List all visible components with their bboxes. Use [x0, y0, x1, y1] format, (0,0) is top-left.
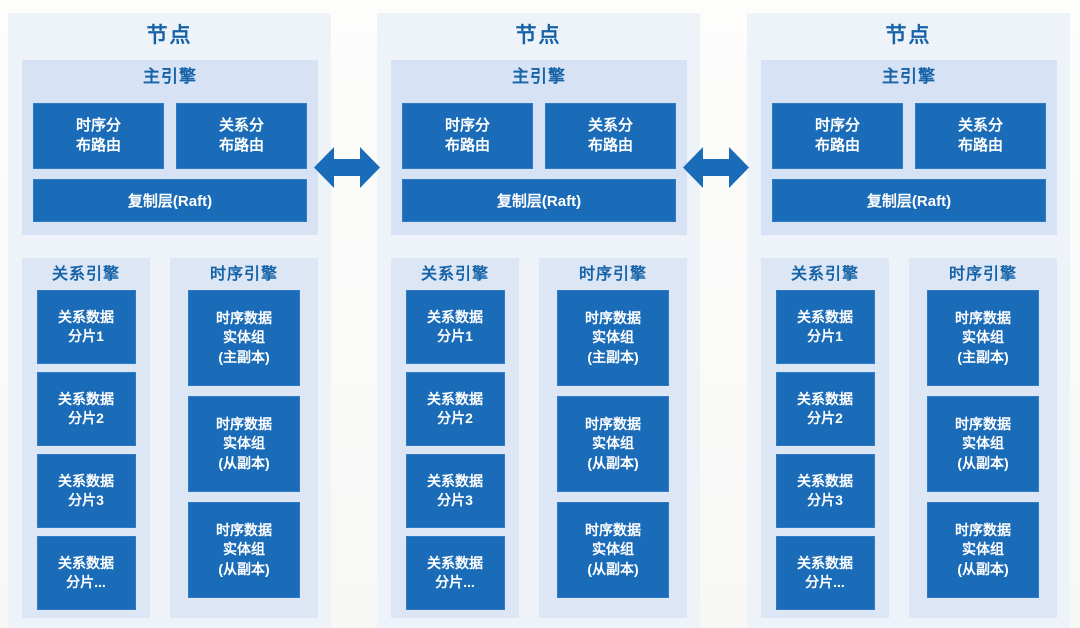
- timeseries-entity-group-box[interactable]: 时序数据 实体组 (主副本): [188, 290, 300, 386]
- timeseries-entity-group-list: 时序数据 实体组 (主副本) 时序数据 实体组 (从副本) 时序数据 实体组 (…: [909, 290, 1057, 618]
- timeseries-engine-title: 时序引擎: [949, 258, 1017, 290]
- relational-shard-box[interactable]: 关系数据 分片1: [37, 290, 136, 364]
- timeseries-engine-panel[interactable]: 时序引擎 时序数据 实体组 (主副本) 时序数据 实体组 (从副本) 时序数据 …: [539, 258, 687, 618]
- timeseries-entity-group-box[interactable]: 时序数据 实体组 (从副本): [557, 502, 669, 598]
- timeseries-entity-group-list: 时序数据 实体组 (主副本) 时序数据 实体组 (从副本) 时序数据 实体组 (…: [539, 290, 687, 618]
- relational-router-box[interactable]: 关系分 布路由: [915, 103, 1046, 169]
- router-row: 时序分 布路由 关系分 布路由: [402, 103, 676, 169]
- relational-engine-title: 关系引擎: [791, 258, 859, 290]
- replication-layer-raft-bar[interactable]: 复制层(Raft): [33, 179, 307, 222]
- relational-shard-box[interactable]: 关系数据 分片2: [37, 372, 136, 446]
- main-engine-panel[interactable]: 主引擎 时序分 布路由 关系分 布路由 复制层(Raft): [22, 60, 318, 235]
- relational-shard-box[interactable]: 关系数据 分片...: [406, 536, 505, 610]
- relational-shard-box[interactable]: 关系数据 分片3: [406, 454, 505, 528]
- node-panel-3[interactable]: 节点 主引擎 时序分 布路由 关系分 布路由 复制层(Raft) 关系引擎 关系…: [747, 13, 1070, 628]
- node-title: 节点: [747, 13, 1070, 46]
- relational-router-box[interactable]: 关系分 布路由: [545, 103, 676, 169]
- relational-shard-list: 关系数据 分片1 关系数据 分片2 关系数据 分片3 关系数据 分片...: [391, 290, 519, 618]
- timeseries-engine-title: 时序引擎: [579, 258, 647, 290]
- timeseries-entity-group-box[interactable]: 时序数据 实体组 (从副本): [927, 502, 1039, 598]
- relational-shard-list: 关系数据 分片1 关系数据 分片2 关系数据 分片3 关系数据 分片...: [761, 290, 889, 618]
- relational-shard-box[interactable]: 关系数据 分片3: [776, 454, 875, 528]
- relational-shard-box[interactable]: 关系数据 分片2: [776, 372, 875, 446]
- relational-shard-box[interactable]: 关系数据 分片1: [406, 290, 505, 364]
- bidirectional-arrow-icon: [683, 144, 749, 191]
- connector-node1-node2: [314, 144, 380, 191]
- timeseries-router-box[interactable]: 时序分 布路由: [772, 103, 903, 169]
- timeseries-entity-group-box[interactable]: 时序数据 实体组 (从副本): [557, 396, 669, 492]
- engines-row: 关系引擎 关系数据 分片1 关系数据 分片2 关系数据 分片3 关系数据 分片.…: [22, 258, 318, 618]
- relational-shard-box[interactable]: 关系数据 分片1: [776, 290, 875, 364]
- timeseries-engine-title: 时序引擎: [210, 258, 278, 290]
- relational-shard-list: 关系数据 分片1 关系数据 分片2 关系数据 分片3 关系数据 分片...: [22, 290, 150, 618]
- main-engine-title: 主引擎: [391, 60, 687, 85]
- router-row: 时序分 布路由 关系分 布路由: [772, 103, 1046, 169]
- engines-row: 关系引擎 关系数据 分片1 关系数据 分片2 关系数据 分片3 关系数据 分片.…: [391, 258, 687, 618]
- relational-engine-title: 关系引擎: [52, 258, 120, 290]
- timeseries-entity-group-box[interactable]: 时序数据 实体组 (从副本): [188, 502, 300, 598]
- timeseries-entity-group-box[interactable]: 时序数据 实体组 (主副本): [927, 290, 1039, 386]
- node-panel-2[interactable]: 节点 主引擎 时序分 布路由 关系分 布路由 复制层(Raft) 关系引擎 关系…: [377, 13, 700, 628]
- timeseries-entity-group-box[interactable]: 时序数据 实体组 (从副本): [927, 396, 1039, 492]
- replication-layer-raft-bar[interactable]: 复制层(Raft): [402, 179, 676, 222]
- main-engine-title: 主引擎: [761, 60, 1057, 85]
- node-title: 节点: [377, 13, 700, 46]
- timeseries-engine-panel[interactable]: 时序引擎 时序数据 实体组 (主副本) 时序数据 实体组 (从副本) 时序数据 …: [170, 258, 318, 618]
- router-row: 时序分 布路由 关系分 布路由: [33, 103, 307, 169]
- relational-engine-panel[interactable]: 关系引擎 关系数据 分片1 关系数据 分片2 关系数据 分片3 关系数据 分片.…: [391, 258, 519, 618]
- main-engine-title: 主引擎: [22, 60, 318, 85]
- relational-shard-box[interactable]: 关系数据 分片...: [776, 536, 875, 610]
- node-title: 节点: [8, 13, 331, 46]
- replication-layer-raft-bar[interactable]: 复制层(Raft): [772, 179, 1046, 222]
- relational-shard-box[interactable]: 关系数据 分片2: [406, 372, 505, 446]
- relational-shard-box[interactable]: 关系数据 分片...: [37, 536, 136, 610]
- main-engine-panel[interactable]: 主引擎 时序分 布路由 关系分 布路由 复制层(Raft): [761, 60, 1057, 235]
- engines-row: 关系引擎 关系数据 分片1 关系数据 分片2 关系数据 分片3 关系数据 分片.…: [761, 258, 1057, 618]
- timeseries-router-box[interactable]: 时序分 布路由: [402, 103, 533, 169]
- cluster-row: 节点 主引擎 时序分 布路由 关系分 布路由 复制层(Raft) 关系引擎 关系…: [0, 0, 1080, 628]
- timeseries-engine-panel[interactable]: 时序引擎 时序数据 实体组 (主副本) 时序数据 实体组 (从副本) 时序数据 …: [909, 258, 1057, 618]
- bidirectional-arrow-icon: [314, 144, 380, 191]
- relational-engine-panel[interactable]: 关系引擎 关系数据 分片1 关系数据 分片2 关系数据 分片3 关系数据 分片.…: [761, 258, 889, 618]
- node-panel-1[interactable]: 节点 主引擎 时序分 布路由 关系分 布路由 复制层(Raft) 关系引擎 关系…: [8, 13, 331, 628]
- timeseries-router-box[interactable]: 时序分 布路由: [33, 103, 164, 169]
- timeseries-entity-group-box[interactable]: 时序数据 实体组 (主副本): [557, 290, 669, 386]
- relational-router-box[interactable]: 关系分 布路由: [176, 103, 307, 169]
- diagram-canvas: 节点 主引擎 时序分 布路由 关系分 布路由 复制层(Raft) 关系引擎 关系…: [0, 0, 1080, 628]
- timeseries-entity-group-list: 时序数据 实体组 (主副本) 时序数据 实体组 (从副本) 时序数据 实体组 (…: [170, 290, 318, 618]
- timeseries-entity-group-box[interactable]: 时序数据 实体组 (从副本): [188, 396, 300, 492]
- relational-engine-panel[interactable]: 关系引擎 关系数据 分片1 关系数据 分片2 关系数据 分片3 关系数据 分片.…: [22, 258, 150, 618]
- connector-node2-node3: [683, 144, 749, 191]
- main-engine-panel[interactable]: 主引擎 时序分 布路由 关系分 布路由 复制层(Raft): [391, 60, 687, 235]
- relational-shard-box[interactable]: 关系数据 分片3: [37, 454, 136, 528]
- relational-engine-title: 关系引擎: [421, 258, 489, 290]
